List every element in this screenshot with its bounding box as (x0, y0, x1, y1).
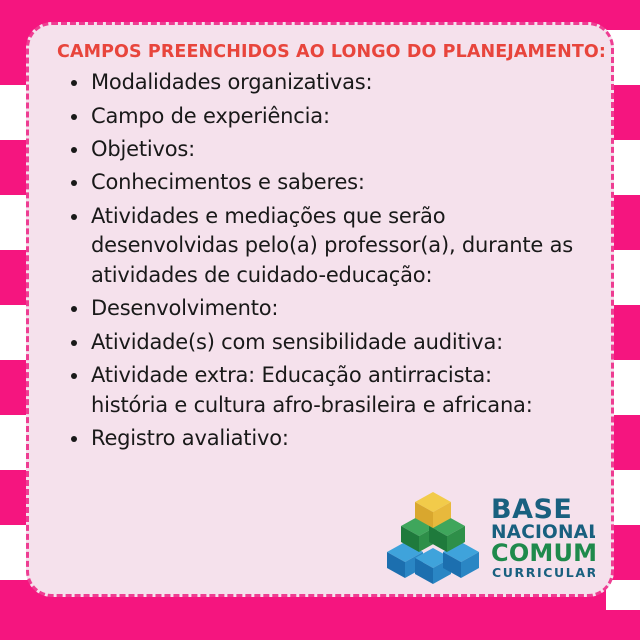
list-item-line: Registro avaliativo: (91, 424, 591, 454)
bncc-logo: BASE NACIONAL COMUM CURRICULAR (383, 490, 595, 586)
list-item-line: desenvolvidas pelo(a) professor(a), dura… (91, 231, 591, 261)
list-item-line: Objetivos: (91, 135, 591, 165)
bullet-icon (71, 373, 77, 379)
list-item: Atividades e mediações que serão desenvo… (69, 202, 591, 291)
list-item: Conhecimentos e saberes: (69, 168, 591, 198)
bullet-icon (71, 214, 77, 220)
list-item-line: história e cultura afro-brasileira e afr… (91, 391, 591, 421)
bottom-border-band (0, 610, 640, 640)
bullet-icon (71, 340, 77, 346)
logo-text-base: BASE (491, 494, 572, 525)
list-item: Atividade(s) com sensibilidade auditiva: (69, 328, 591, 358)
list-item: Modalidades organizativas: (69, 68, 591, 98)
logo-text-curricular: CURRICULAR (492, 565, 595, 580)
list-item-line: atividades de cuidado-educação: (91, 261, 591, 291)
list-item-line: Atividades e mediações que serão (91, 202, 591, 232)
list-item-line: Modalidades organizativas: (91, 68, 591, 98)
bullet-icon (71, 80, 77, 86)
list-item: Objetivos: (69, 135, 591, 165)
logo-text-comum: COMUM (491, 539, 595, 567)
bullet-icon (71, 147, 77, 153)
content-card: CAMPOS PREENCHIDOS AO LONGO DO PLANEJAME… (26, 22, 614, 597)
list-item: Atividade extra: Educação antirracista: … (69, 361, 591, 421)
list-item-line: Campo de experiência: (91, 102, 591, 132)
poster-root: CAMPOS PREENCHIDOS AO LONGO DO PLANEJAME… (0, 0, 640, 640)
planning-fields-list: Modalidades organizativas: Campo de expe… (49, 68, 591, 454)
bullet-icon (71, 306, 77, 312)
list-item: Registro avaliativo: (69, 424, 591, 454)
list-item-line: Conhecimentos e saberes: (91, 168, 591, 198)
card-title: CAMPOS PREENCHIDOS AO LONGO DO PLANEJAME… (57, 43, 591, 62)
bncc-cube-stack (387, 492, 479, 584)
list-item: Desenvolvimento: (69, 294, 591, 324)
list-item: Campo de experiência: (69, 102, 591, 132)
list-item-line: Desenvolvimento: (91, 294, 591, 324)
list-item-line: Atividade extra: Educação antirracista: (91, 361, 591, 391)
bullet-icon (71, 436, 77, 442)
bullet-icon (71, 180, 77, 186)
bullet-icon (71, 114, 77, 120)
list-item-line: Atividade(s) com sensibilidade auditiva: (91, 328, 591, 358)
